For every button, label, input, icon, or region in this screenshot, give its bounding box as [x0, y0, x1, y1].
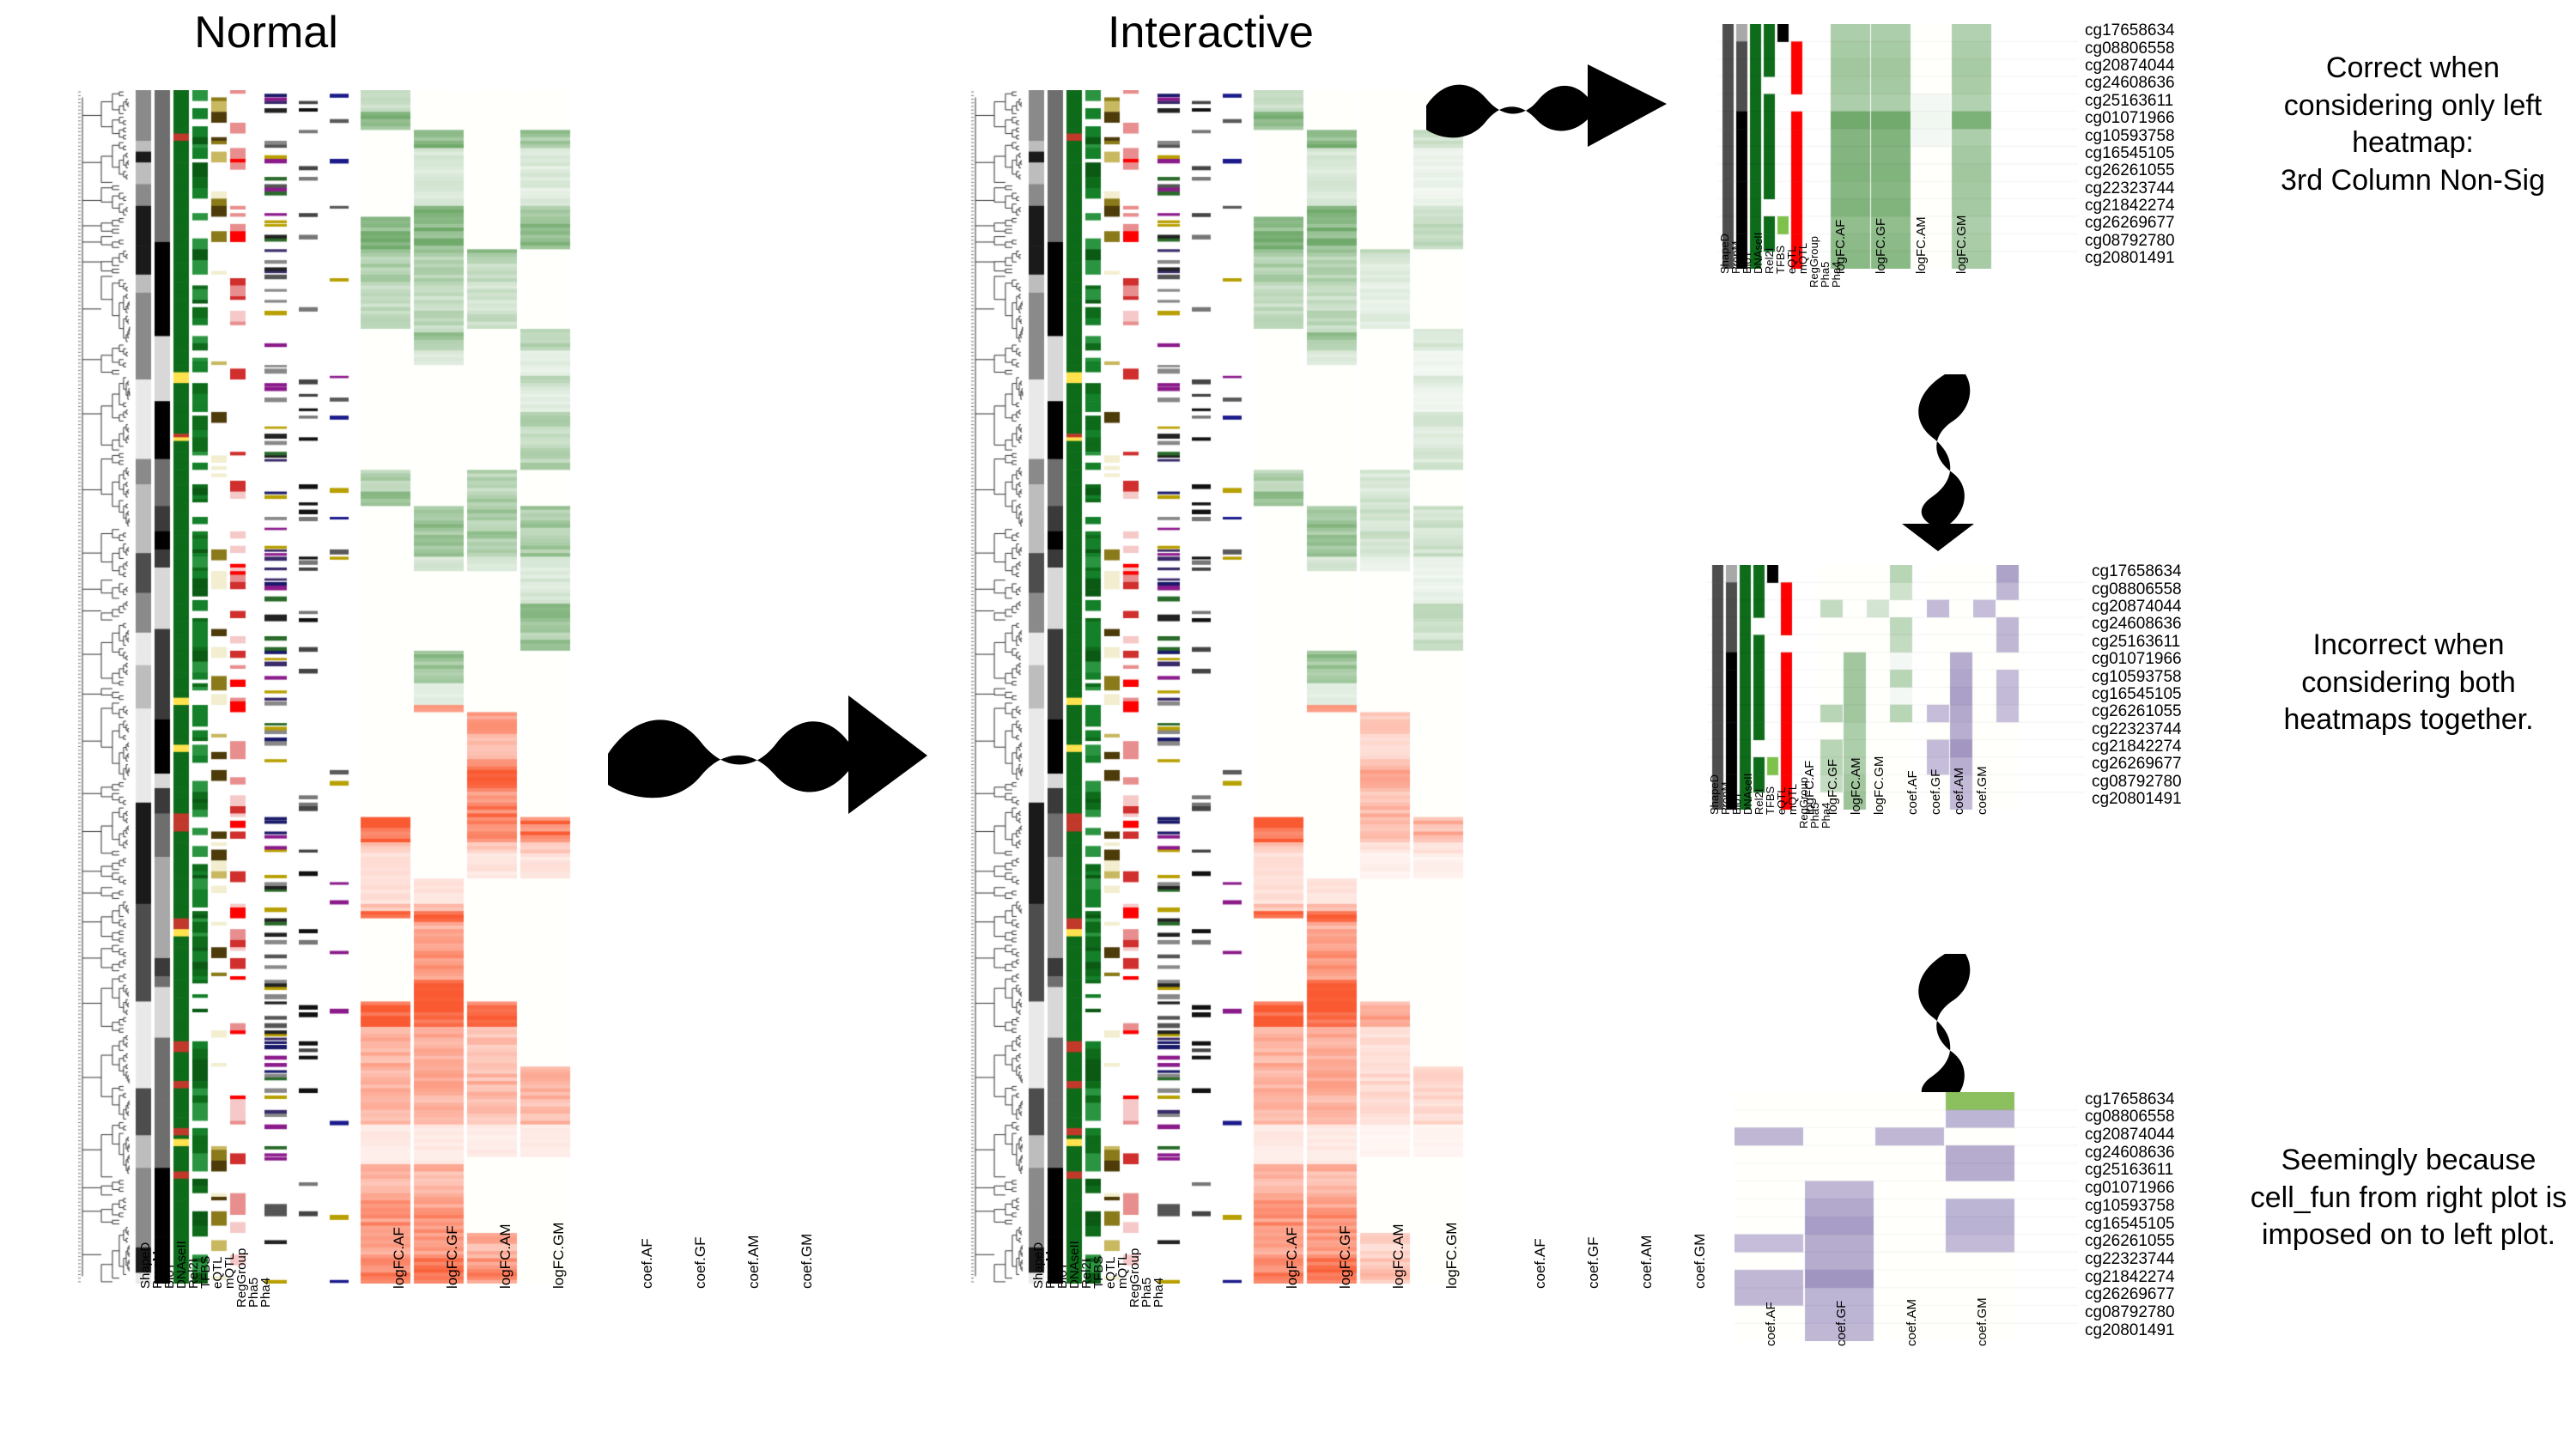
row-label-cg26261055: cg26261055 [2092, 703, 2182, 719]
column-label-logfc-gf: logFC.GF [1338, 1225, 1352, 1289]
row-label-cg08806558: cg08806558 [2085, 40, 2175, 57]
note-reason: Seemingly because cell_fun from right pl… [2241, 1142, 2576, 1254]
squiggle-arrow-right-zoom1 [1421, 47, 1679, 159]
row-label-cg24608636: cg24608636 [2085, 1144, 2175, 1161]
row-label-cg24608636: cg24608636 [2085, 75, 2175, 91]
column-label-coef-af: coef.AF [1906, 770, 1919, 815]
row-label-cg20801491: cg20801491 [2085, 250, 2175, 266]
row-label-cg22323744: cg22323744 [2085, 1251, 2175, 1267]
row-label-cg20801491: cg20801491 [2085, 1322, 2175, 1339]
column-label-coef-am: coef.AM [1639, 1235, 1654, 1289]
row-label-cg17658634: cg17658634 [2085, 1091, 2175, 1108]
column-label-logfc-gf: logFC.GF [1826, 759, 1839, 815]
column-label-logfc-af: logFC.AF [1803, 761, 1816, 815]
panel-normal-title: Normal [155, 7, 378, 58]
row-label-cg16545105: cg16545105 [2092, 686, 2182, 702]
column-label-coef-gm: coef.GM [1976, 766, 1989, 815]
row-label-cg10593758: cg10593758 [2085, 1198, 2175, 1214]
panel-interactive: Interactive ShapeDPropMBioTDNAseIIRel2IT… [927, 0, 1528, 1449]
note-incorrect: Incorrect when considering both heatmaps… [2241, 627, 2576, 739]
column-label-logfc-af: logFC.AF [392, 1227, 406, 1289]
row-label-cg20874044: cg20874044 [2092, 598, 2182, 615]
column-label-coef-gf: coef.GF [1586, 1237, 1601, 1289]
row-label-cg26269677: cg26269677 [2085, 215, 2175, 231]
column-label-logfc-am: logFC.AM [1915, 216, 1928, 274]
column-label-logfc-am: logFC.AM [1850, 757, 1862, 815]
row-label-cg25163611: cg25163611 [2085, 1162, 2173, 1178]
column-label-logfc-am: logFC.AM [1391, 1223, 1406, 1289]
column-label-coef-am: coef.AM [1953, 768, 1965, 815]
column-label-coef-gm: coef.GM [799, 1234, 814, 1289]
column-label-pha4: Pha4 [259, 1278, 272, 1308]
column-label-coef-am: coef.AM [1905, 1299, 1918, 1346]
row-label-cg08806558: cg08806558 [2085, 1108, 2175, 1125]
column-label-coef-gm: coef.GM [1692, 1234, 1707, 1289]
row-label-cg21842274: cg21842274 [2092, 738, 2182, 755]
row-label-cg26269677: cg26269677 [2085, 1286, 2175, 1302]
row-label-cg26261055: cg26261055 [2085, 1233, 2175, 1249]
column-label-logfc-gf: logFC.GF [1874, 218, 1887, 274]
column-label-coef-af: coef.AF [1533, 1238, 1547, 1289]
column-label-logfc-gm: logFC.GM [1873, 756, 1886, 815]
row-label-cg17658634: cg17658634 [2085, 22, 2175, 39]
column-label-logfc-gm: logFC.GM [1955, 216, 1968, 274]
squiggle-arrow-right-main [601, 670, 945, 816]
row-label-cg25163611: cg25163611 [2092, 634, 2180, 650]
column-label-coef-gf: coef.GF [1929, 769, 1942, 815]
panel-zoom-2: ShapeDPropMBioTDNAseIIRel2ITFBSeQTLmQTLR… [1700, 541, 2250, 953]
row-label-cg08792780: cg08792780 [2085, 1304, 2175, 1320]
column-label-coef-af: coef.AF [1765, 1302, 1777, 1346]
row-label-cg08792780: cg08792780 [2092, 774, 2182, 790]
column-label-logfc-af: logFC.AF [1285, 1227, 1299, 1289]
column-label-coef-am: coef.AM [746, 1235, 761, 1289]
row-label-cg16545105: cg16545105 [2085, 145, 2175, 161]
interactive-heatmap-canvas [970, 90, 1503, 1284]
column-label-logfc-gf: logFC.GF [445, 1225, 459, 1289]
row-label-cg25163611: cg25163611 [2085, 93, 2173, 109]
row-label-cg24608636: cg24608636 [2092, 616, 2182, 632]
row-label-cg08806558: cg08806558 [2092, 581, 2182, 598]
row-label-cg20874044: cg20874044 [2085, 58, 2175, 74]
note-correct: Correct when considering only left heatm… [2250, 50, 2576, 199]
column-label-logfc-gm: logFC.GM [551, 1223, 566, 1289]
column-label-logfc-am: logFC.AM [498, 1223, 513, 1289]
row-label-cg01071966: cg01071966 [2092, 651, 2182, 667]
row-label-cg16545105: cg16545105 [2085, 1216, 2175, 1232]
row-label-cg10593758: cg10593758 [2092, 669, 2182, 685]
row-label-cg21842274: cg21842274 [2085, 1269, 2175, 1285]
row-label-cg20874044: cg20874044 [2085, 1126, 2175, 1143]
column-label-logfc-gm: logFC.GM [1444, 1223, 1459, 1289]
row-label-cg26261055: cg26261055 [2085, 162, 2175, 179]
row-label-cg01071966: cg01071966 [2085, 110, 2175, 126]
panel-zoom-1: ShapeDPropMBioTDNAseIIRel2ITFBSeQTLmQTLR… [1709, 0, 2258, 369]
row-label-cg17658634: cg17658634 [2092, 563, 2182, 580]
row-label-cg21842274: cg21842274 [2085, 197, 2175, 214]
row-label-cg22323744: cg22323744 [2085, 180, 2175, 197]
row-label-cg10593758: cg10593758 [2085, 128, 2175, 144]
column-label-coef-gf: coef.GF [1835, 1301, 1848, 1346]
column-label-coef-gf: coef.GF [693, 1237, 708, 1289]
row-label-cg22323744: cg22323744 [2092, 721, 2182, 738]
zoom1-heatmap-canvas [1717, 24, 2078, 269]
panel-zoom-3: coef.AFcoef.GFcoef.AMcoef.GM cg17658634c… [1717, 1073, 2267, 1451]
row-label-cg20801491: cg20801491 [2092, 791, 2182, 807]
column-label-coef-af: coef.AF [640, 1238, 654, 1289]
zoom2-heatmap-canvas [1707, 565, 2085, 810]
column-label-pha4: Pha4 [1152, 1278, 1165, 1308]
panel-interactive-title: Interactive [1065, 7, 1357, 58]
normal-heatmap-canvas [77, 90, 610, 1284]
squiggle-arrow-down-1 [1885, 369, 1996, 554]
row-label-cg01071966: cg01071966 [2085, 1180, 2175, 1196]
column-label-logfc-af: logFC.AF [1834, 220, 1847, 274]
panel-normal: Normal ShapeDPropMBioTDNAseIIRel2ITFBSeQ… [0, 0, 601, 1449]
column-label-coef-gm: coef.GM [1976, 1297, 1989, 1346]
row-label-cg26269677: cg26269677 [2092, 756, 2182, 772]
row-label-cg08792780: cg08792780 [2085, 233, 2175, 249]
